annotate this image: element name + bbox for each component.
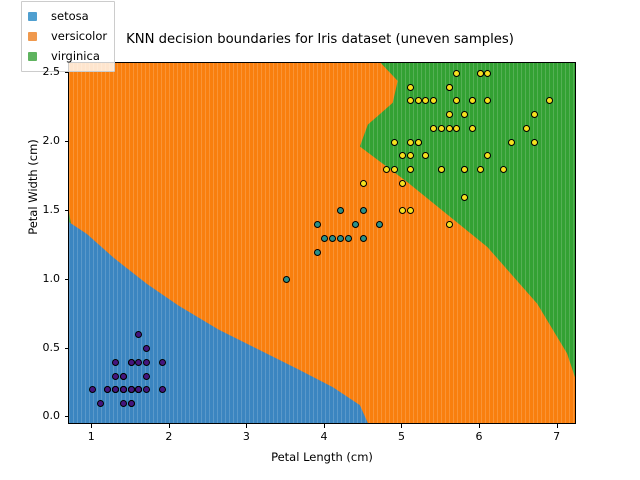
y-tick-mark xyxy=(65,210,69,211)
scatter-point-versicolor xyxy=(345,235,352,242)
scatter-point-setosa xyxy=(128,359,135,366)
scatter-point-virginica xyxy=(546,97,553,104)
legend-swatch-versicolor xyxy=(28,32,37,41)
scatter-point-virginica xyxy=(531,111,538,118)
legend-label-setosa: setosa xyxy=(51,9,89,23)
scatter-point-virginica xyxy=(391,166,398,173)
scatter-point-setosa xyxy=(89,386,96,393)
scatter-point-virginica xyxy=(438,166,445,173)
scatter-point-virginica xyxy=(407,139,414,146)
scatter-point-setosa xyxy=(143,373,150,380)
y-tick-label: 0.5 xyxy=(8,341,60,354)
legend-item-setosa[interactable]: setosa xyxy=(28,6,107,26)
scatter-point-virginica xyxy=(360,180,367,187)
scatter-point-virginica xyxy=(469,97,476,104)
scatter-point-setosa xyxy=(159,386,166,393)
scatter-point-virginica xyxy=(484,152,491,159)
scatter-point-virginica xyxy=(531,139,538,146)
scatter-point-setosa xyxy=(97,400,104,407)
scatter-point-virginica xyxy=(446,84,453,91)
x-tick-mark xyxy=(169,424,170,428)
plot-area xyxy=(68,62,576,424)
scatter-point-virginica xyxy=(399,180,406,187)
scatter-point-setosa xyxy=(135,331,142,338)
scatter-point-virginica xyxy=(477,70,484,77)
y-axis-label: Petal Width (cm) xyxy=(26,77,40,297)
scatter-point-setosa xyxy=(159,359,166,366)
x-tick-label: 1 xyxy=(71,430,111,443)
scatter-point-versicolor xyxy=(337,235,344,242)
y-tick-mark xyxy=(65,141,69,142)
scatter-point-setosa xyxy=(135,359,142,366)
scatter-point-versicolor xyxy=(329,235,336,242)
legend-swatch-setosa xyxy=(28,12,37,21)
scatter-point-versicolor xyxy=(360,207,367,214)
y-tick-label: 0.0 xyxy=(8,409,60,422)
scatter-point-versicolor xyxy=(360,235,367,242)
scatter-point-versicolor xyxy=(321,235,328,242)
y-tick-mark xyxy=(65,279,69,280)
scatter-point-setosa xyxy=(135,386,142,393)
scatter-point-virginica xyxy=(407,84,414,91)
scatter-point-setosa xyxy=(143,386,150,393)
scatter-point-virginica xyxy=(446,221,453,228)
scatter-point-virginica xyxy=(461,194,468,201)
x-tick-mark xyxy=(479,424,480,428)
scatter-point-virginica xyxy=(415,97,422,104)
scatter-point-versicolor xyxy=(314,249,321,256)
scatter-point-virginica xyxy=(484,97,491,104)
scatter-point-virginica xyxy=(461,111,468,118)
scatter-point-virginica xyxy=(422,152,429,159)
scatter-point-virginica xyxy=(422,97,429,104)
scatter-point-versicolor xyxy=(376,221,383,228)
x-tick-mark xyxy=(401,424,402,428)
scatter-point-virginica xyxy=(523,125,530,132)
x-tick-label: 6 xyxy=(459,430,499,443)
scatter-point-virginica xyxy=(430,97,437,104)
scatter-point-setosa xyxy=(120,373,127,380)
x-tick-mark xyxy=(324,424,325,428)
scatter-point-virginica xyxy=(391,139,398,146)
scatter-point-virginica xyxy=(446,111,453,118)
scatter-point-setosa xyxy=(143,345,150,352)
x-tick-mark xyxy=(246,424,247,428)
legend-swatch-virginica xyxy=(28,52,37,61)
scatter-point-setosa xyxy=(112,386,119,393)
scatter-point-virginica xyxy=(407,207,414,214)
x-tick-label: 3 xyxy=(226,430,266,443)
scatter-point-virginica xyxy=(469,125,476,132)
scatter-point-virginica xyxy=(508,139,515,146)
legend-item-versicolor[interactable]: versicolor xyxy=(28,26,107,46)
scatter-point-virginica xyxy=(383,166,390,173)
scatter-point-virginica xyxy=(500,166,507,173)
scatter-point-virginica xyxy=(399,207,406,214)
y-tick-mark xyxy=(65,72,69,73)
legend-item-virginica[interactable]: virginica xyxy=(28,46,107,66)
y-tick-mark xyxy=(65,348,69,349)
x-tick-mark xyxy=(557,424,558,428)
scatter-point-versicolor xyxy=(337,207,344,214)
legend-label-virginica: virginica xyxy=(51,49,100,63)
scatter-point-virginica xyxy=(430,125,437,132)
scatter-point-virginica xyxy=(453,125,460,132)
chart-legend[interactable]: setosa versicolor virginica xyxy=(21,1,115,72)
scatter-point-virginica xyxy=(407,97,414,104)
scatter-point-setosa xyxy=(143,359,150,366)
chart-title-line1: KNN decision boundaries for Iris dataset… xyxy=(126,32,514,47)
scatter-point-setosa xyxy=(128,386,135,393)
x-tick-label: 4 xyxy=(304,430,344,443)
x-tick-label: 2 xyxy=(149,430,189,443)
scatter-point-versicolor xyxy=(314,221,321,228)
scatter-point-virginica xyxy=(484,70,491,77)
scatter-point-virginica xyxy=(438,125,445,132)
scatter-point-versicolor xyxy=(352,221,359,228)
scatter-point-virginica xyxy=(407,152,414,159)
x-tick-label: 7 xyxy=(537,430,577,443)
scatter-point-virginica xyxy=(461,166,468,173)
scatter-point-setosa xyxy=(112,373,119,380)
y-tick-mark xyxy=(65,416,69,417)
x-tick-mark xyxy=(91,424,92,428)
scatter-points xyxy=(69,63,575,423)
scatter-point-virginica xyxy=(446,125,453,132)
x-tick-label: 5 xyxy=(381,430,421,443)
matplotlib-figure: KNN decision boundaries for Iris dataset… xyxy=(0,0,640,480)
scatter-point-virginica xyxy=(415,139,422,146)
scatter-point-virginica xyxy=(453,70,460,77)
scatter-point-virginica xyxy=(477,166,484,173)
scatter-point-setosa xyxy=(128,400,135,407)
scatter-point-setosa xyxy=(112,359,119,366)
scatter-point-setosa xyxy=(120,386,127,393)
x-axis-label: Petal Length (cm) xyxy=(68,450,576,464)
scatter-point-virginica xyxy=(399,152,406,159)
scatter-point-setosa xyxy=(104,386,111,393)
scatter-point-versicolor xyxy=(283,276,290,283)
legend-label-versicolor: versicolor xyxy=(51,29,107,43)
scatter-point-setosa xyxy=(120,400,127,407)
scatter-point-virginica xyxy=(407,166,414,173)
scatter-point-virginica xyxy=(453,97,460,104)
